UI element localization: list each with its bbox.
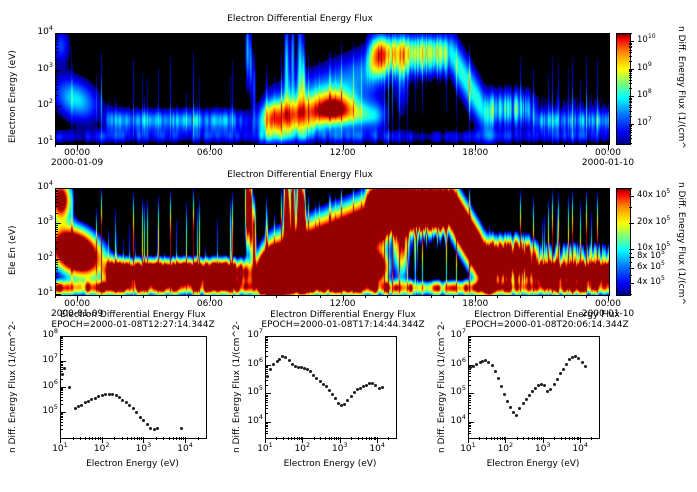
spectrum-xtick-label: 104 — [169, 444, 201, 454]
spectrum-xtick-minor — [288, 437, 289, 440]
colorbar-tick-minor — [629, 262, 632, 263]
spectrum-ytick-minor — [468, 385, 471, 386]
spectrum-ytick-minor — [265, 395, 268, 396]
panel-xtick — [320, 295, 321, 298]
spectrum-xtick-minor — [366, 437, 367, 440]
spectrum-ytick-minor — [60, 417, 63, 418]
colorbar-tick-minor — [629, 125, 632, 126]
panel-xtick — [276, 295, 277, 298]
spectrum-title-3: Electron Differential Energy Flux — [432, 310, 662, 320]
spectrum-data-point — [491, 364, 494, 367]
spectrum-xtick-minor — [92, 437, 93, 440]
panel-xtick — [121, 295, 122, 298]
spectrum-ytick-minor — [468, 373, 471, 374]
panel-ytick-minor — [55, 117, 58, 118]
panel-xtick — [497, 295, 498, 298]
spectrum-xtick-minor — [375, 437, 376, 440]
spectrum-ytick-minor — [265, 425, 268, 426]
panel-xtick — [365, 144, 366, 147]
spectrum-xtick-minor — [334, 437, 335, 440]
panel1-title: Electron Differential Energy Flux — [0, 14, 600, 24]
panel-xtick — [542, 144, 543, 147]
panel-xtick-label: 18:00 — [453, 299, 497, 309]
spectrum-xtick-minor — [371, 437, 372, 440]
panel-xtick — [121, 144, 122, 147]
spectrum-ytick-minor — [60, 394, 63, 395]
spectrum-xtick-minor — [541, 437, 542, 440]
panel-xtick — [143, 295, 144, 298]
spectrum-xtick — [377, 437, 378, 443]
panel-xtick-label: 00:00 — [586, 299, 630, 309]
panel-ytick-minor — [55, 59, 58, 60]
panel-xtick — [431, 295, 432, 298]
spectrum-ytick-minor — [60, 400, 63, 401]
panel2-colorbar-label-wrap: n Diff. Energy Flux (1/(cm^ — [686, 182, 697, 192]
colorbar-tick-minor — [629, 207, 632, 208]
spectrum-ytick-minor — [60, 429, 63, 430]
panel-xtick-label: 18:00 — [453, 148, 497, 158]
colorbar-tick-minor — [629, 44, 632, 45]
spectrum-xtick-minor — [574, 437, 575, 440]
spectrum-data-point — [104, 393, 107, 396]
panel2-ylabel: Ele En (eV) — [8, 225, 18, 275]
panel-xtick-label: 00:00 — [55, 299, 99, 309]
panel1-colorbar-label-wrap: n Diff. Energy Flux (1/(cm^ — [686, 26, 697, 36]
panel-xtick-label: 06:00 — [188, 148, 232, 158]
spectrum-ylabel-2: n Diff. Energy Flux (1/(cm^2- — [232, 321, 242, 453]
spectrum-data-point — [475, 363, 478, 366]
panel-ytick-minor — [55, 227, 58, 228]
colorbar-tick-minor — [629, 46, 632, 47]
spectrum-xtick-minor — [134, 437, 135, 440]
colorbar-tick-minor — [629, 47, 632, 48]
colorbar-tick-minor — [629, 102, 632, 103]
spectrum-ytick-minor — [265, 413, 268, 414]
spectrum-xtick-minor — [95, 437, 96, 440]
spectrum-ytick-minor — [60, 342, 63, 343]
panel-xtick — [143, 144, 144, 147]
spectrum-ytick-minor — [60, 397, 63, 398]
spectrum-ytick-minor — [468, 433, 471, 434]
panel-xtick — [586, 295, 587, 298]
spectrum-xtick-minor — [336, 437, 337, 440]
spectrum-xtick-minor — [325, 437, 326, 440]
panel-ytick-major — [55, 33, 61, 34]
panel-ytick-minor — [55, 277, 58, 278]
colorbar-tick-minor — [629, 50, 632, 51]
spectrum-xtick-minor — [534, 437, 535, 440]
spectrum-xtick-minor — [183, 437, 184, 440]
spectrum-ytick-minor — [60, 365, 63, 366]
panel-xtick-date: 2000-01-09 — [43, 158, 111, 168]
spectrum-ytick-minor — [60, 413, 63, 414]
spectrum-ytick-minor — [468, 398, 471, 399]
spectrum-data-point — [331, 393, 334, 396]
spectrum-xtick-minor — [301, 437, 302, 440]
spectrum-ytick-minor — [265, 433, 268, 434]
spectrum-xtick-minor — [500, 437, 501, 440]
spectrum-xtick-minor — [173, 437, 174, 440]
panel-ytick-minor — [55, 231, 58, 232]
spectrum-ytick-minor — [265, 369, 268, 370]
spectrum-ytick-minor — [60, 392, 63, 393]
panel-xtick — [99, 144, 100, 147]
spectrum-ytick-minor — [468, 400, 471, 401]
spectrum-xtick-minor — [122, 437, 123, 440]
panel-xtick — [166, 295, 167, 298]
panel-ytick-minor — [55, 269, 58, 270]
colorbar-tick-minor — [629, 294, 632, 295]
panel2-colorbar-label: n Diff. Energy Flux (1/(cm^ — [676, 182, 686, 305]
spectrum-ytick-minor — [60, 340, 63, 341]
spectrum-xtick-minor — [502, 437, 503, 440]
panel2-ylabel-wrap: Ele En (eV) — [8, 275, 58, 285]
panel2-colorbar — [616, 188, 631, 296]
spectrum-xtick-minor — [320, 437, 321, 440]
panel-ytick-minor — [55, 108, 58, 109]
spectrum-data-point — [288, 359, 291, 362]
colorbar-tick-minor — [629, 223, 632, 224]
spectrum-xtick — [102, 437, 103, 443]
colorbar-tick-minor — [629, 99, 632, 100]
panel-ytick-minor — [55, 48, 58, 49]
spectrum-ytick-minor — [265, 380, 268, 381]
spectrum-ytick-minor — [265, 405, 268, 406]
colorbar-tick-minor — [629, 253, 632, 254]
panel-ytick-minor — [55, 89, 58, 90]
spectrum-xtick-label: 104 — [361, 444, 393, 454]
panel-ytick-minor — [55, 190, 58, 191]
panel-xtick-date: 2000-01-10 — [574, 158, 642, 168]
spectrum-xtick-minor — [578, 437, 579, 440]
panel-xtick-label: 12:00 — [321, 148, 365, 158]
colorbar-tick-label: 1010 — [637, 35, 656, 45]
colorbar-tick-minor — [629, 80, 632, 81]
spectrum-ytick-minor — [60, 364, 63, 365]
colorbar-tick-minor — [629, 71, 632, 72]
spectrum-data-point — [146, 423, 149, 426]
panel-ytick-minor — [55, 121, 58, 122]
spectrum-ytick-minor — [60, 414, 63, 415]
panel-ytick-major — [55, 106, 61, 107]
panel-ytick-minor — [55, 52, 58, 53]
panel-ytick-minor — [55, 37, 58, 38]
spectrum-ytick-minor — [60, 416, 63, 417]
colorbar-tick-minor — [629, 135, 632, 136]
spectrum-ytick-minor — [265, 356, 268, 357]
colorbar-tick-label: 108 — [637, 90, 652, 100]
spectrum-data-point — [350, 395, 353, 398]
spectrum-ytick-minor — [265, 339, 268, 340]
spectrum-ytick-minor — [265, 431, 268, 432]
spectrum-xtick — [580, 437, 581, 443]
panel-xtick — [409, 144, 410, 147]
spectrum-ytick-minor — [265, 385, 268, 386]
spectrum-data-point — [139, 416, 142, 419]
colorbar-tick-minor — [629, 257, 632, 258]
spectrum-xtick-minor — [388, 437, 389, 440]
spectrum-ylabel-1: n Diff. Energy Flux (1/(cm^2- — [8, 321, 18, 453]
spectrum-xtick-minor — [358, 437, 359, 440]
panel-ytick-minor — [55, 260, 58, 261]
panel-xtick — [453, 144, 454, 147]
panel-xtick-label: 00:00 — [55, 148, 99, 158]
spectrum-ytick-minor — [468, 428, 471, 429]
colorbar-tick-minor — [629, 196, 632, 197]
panel-xtick — [188, 144, 189, 147]
panel2-title: Electron Differential Energy Flux — [0, 170, 600, 180]
spectrum-data-point — [353, 391, 356, 394]
spectrum-ytick-minor — [468, 339, 471, 340]
spectrum-xtick-minor — [577, 437, 578, 440]
spectrum-xtick-minor — [181, 437, 182, 440]
spectrum-ytick-minor — [60, 362, 63, 363]
spectrum-xtick-minor — [85, 437, 86, 440]
panel-ytick-minor — [55, 44, 58, 45]
spectrum-data-point — [325, 385, 328, 388]
spectrum-xtick-minor — [539, 437, 540, 440]
colorbar-tick-minor — [629, 126, 632, 127]
spectrum-data-point — [328, 389, 331, 392]
spectrum-ytick-minor — [265, 373, 268, 374]
spectrum-ylabel-wrap-2: n Diff. Energy Flux (1/(cm^2- — [232, 453, 364, 463]
spectrum-ytick-minor — [60, 349, 63, 350]
spectrum-ytick-minor — [60, 346, 63, 347]
panel-ytick-label: 104 — [25, 182, 53, 192]
panel-xtick — [232, 295, 233, 298]
colorbar-tick-label: 10x 105 — [637, 243, 670, 253]
spectrum-xtick-minor — [504, 437, 505, 440]
panel-ytick-minor — [55, 81, 58, 82]
spectrum-data-point — [94, 397, 97, 400]
spectrum-xtick-minor — [491, 437, 492, 440]
panel-ytick-minor — [55, 206, 58, 207]
panel-xtick — [166, 144, 167, 147]
spectrum-xtick-minor — [517, 437, 518, 440]
colorbar-tick-minor — [629, 56, 632, 57]
spectrum-data-point — [111, 393, 114, 396]
spectrum-data-point — [556, 378, 559, 381]
spectrum-data-point — [512, 411, 515, 414]
spectrum-ytick-minor — [265, 366, 268, 367]
spectrum-ytick-minor — [60, 419, 63, 420]
spectrum-ytick-minor — [468, 369, 471, 370]
spectrum-ytick-minor — [265, 351, 268, 352]
panel-ytick-minor — [55, 114, 58, 115]
spectrum-ytick-minor — [468, 380, 471, 381]
panel-xtick — [298, 144, 299, 147]
spectrum-data-point — [565, 363, 568, 366]
spectrum-ytick-minor — [265, 396, 268, 397]
panel-ytick-minor — [55, 267, 58, 268]
panel-xtick — [55, 295, 56, 298]
panel-xtick — [542, 295, 543, 298]
panel-ytick-major — [55, 188, 61, 189]
spectrum-xtick-minor — [299, 437, 300, 440]
spectrum-xtick-minor — [276, 437, 277, 440]
colorbar-tick-minor — [629, 52, 632, 53]
spectrum-ytick-minor — [468, 371, 471, 372]
spectrum-ytick-minor — [265, 345, 268, 346]
spectrum-ytick-minor — [468, 347, 471, 348]
panel-xtick — [564, 295, 565, 298]
spectrum-ytick-label: 106 — [28, 381, 58, 391]
spectrum-ytick-minor — [265, 423, 268, 424]
spectrum-data-point — [266, 375, 269, 378]
colorbar-tick-minor — [629, 83, 632, 84]
spectrum-data-point — [522, 402, 525, 405]
colorbar-tick-minor — [629, 70, 632, 71]
panel-ytick-label: 103 — [25, 217, 53, 227]
spectrum-xtick-minor — [591, 437, 592, 440]
spectrum-ylabel-3: n Diff. Energy Flux (1/(cm^2- — [437, 321, 447, 453]
panel-ytick-minor — [55, 71, 58, 72]
panel-xtick — [497, 144, 498, 147]
spectrum-data-point — [584, 365, 587, 368]
spectrum-xtick-minor — [362, 437, 363, 440]
spectrum-ytick-minor — [468, 423, 471, 424]
panel-xtick — [520, 144, 521, 147]
spectrum-data-point — [381, 386, 384, 389]
spectrum-xtick-minor — [100, 437, 101, 440]
panel-ytick-minor — [55, 75, 58, 76]
spectrum-ytick-minor — [468, 396, 471, 397]
spectrum-ytick-minor — [468, 340, 471, 341]
colorbar-tick-minor — [629, 138, 632, 139]
spectrum-ytick-minor — [265, 398, 268, 399]
spectrum-xtick-minor — [163, 437, 164, 440]
spectrum-ytick-minor — [60, 389, 63, 390]
panel-ytick-minor — [55, 132, 58, 133]
spectrum-ytick-minor — [265, 367, 268, 368]
spectrum-ytick-minor — [60, 422, 63, 423]
panel-ytick-minor — [55, 196, 58, 197]
colorbar-tick-minor — [629, 249, 632, 250]
panel-ytick-label: 101 — [25, 288, 53, 298]
colorbar-tick-minor — [629, 75, 632, 76]
panel-xtick — [55, 144, 56, 147]
panel-xtick — [586, 144, 587, 147]
panel-ytick-minor — [55, 193, 58, 194]
colorbar-tick-label: 20x 105 — [637, 217, 670, 227]
spectrum-xtick-minor — [98, 437, 99, 440]
spectrum-xtick-minor — [565, 437, 566, 440]
panel-ytick-minor — [55, 39, 58, 40]
spectrum-xtick-minor — [127, 437, 128, 440]
spectrum-xtick-minor — [532, 437, 533, 440]
spectrum-data-point — [149, 427, 152, 430]
spectrum-xtick-minor — [569, 437, 570, 440]
spectrum-xtick-minor — [561, 437, 562, 440]
spectrum-epoch-1: EPOCH=2000-01-08T12:27:14.344Z — [18, 320, 248, 330]
panel-ytick-minor — [55, 273, 58, 274]
colorbar-tick-minor — [629, 61, 632, 62]
panel-ytick-minor — [55, 78, 58, 79]
spectrum-xtick-minor — [479, 437, 480, 440]
spectrum-data-point — [503, 393, 506, 396]
panel-ytick-minor — [55, 248, 58, 249]
spectrum-xtick — [302, 437, 303, 443]
panel-xtick — [520, 295, 521, 298]
spectrum-xtick — [505, 437, 506, 443]
spectrum-ytick-minor — [265, 337, 268, 338]
panel-ytick-minor — [55, 262, 58, 263]
colorbar-tick-minor — [629, 128, 632, 129]
colorbar-tick-minor — [629, 98, 632, 99]
colorbar-tick-minor — [629, 283, 632, 284]
spectrum-xtick-minor — [554, 437, 555, 440]
panel-ytick-minor — [55, 35, 58, 36]
spectrum-ytick-minor — [468, 351, 471, 352]
spectrum-xtick-minor — [283, 437, 284, 440]
colorbar-tick-minor — [629, 73, 632, 74]
panel-xtick — [320, 144, 321, 147]
spectrum-xtick-minor — [169, 437, 170, 440]
spectrum-xtick-minor — [297, 437, 298, 440]
spectrum-xtick-minor — [141, 437, 142, 440]
panel-ytick-minor — [55, 110, 58, 111]
panel-xtick-label: 12:00 — [321, 299, 365, 309]
spectrum-xtick-minor — [486, 437, 487, 440]
spectrum-xtick-minor — [329, 437, 330, 440]
panel-xtick — [254, 144, 255, 147]
spectrum-ytick-minor — [60, 338, 63, 339]
spectrum-ytick-minor — [265, 371, 268, 372]
colorbar-tick-minor — [629, 268, 632, 269]
panel-xtick — [387, 295, 388, 298]
spectrum-xtick-minor — [139, 437, 140, 440]
spectrum-data-point — [525, 398, 528, 401]
spectrum-ytick-minor — [265, 408, 268, 409]
panel-ytick-major — [55, 259, 61, 260]
spectrum-xtick-minor — [494, 437, 495, 440]
spectrum-xtick — [185, 437, 186, 443]
spectrum-ytick-minor — [265, 340, 268, 341]
spectrum-ytick-minor — [468, 408, 471, 409]
spectrum-ytick-minor — [60, 404, 63, 405]
spectrum-xtick-minor — [198, 437, 199, 440]
spectrum-ytick-minor — [468, 337, 471, 338]
panel-ytick-minor — [55, 199, 58, 200]
spectrum-ytick-minor — [468, 395, 471, 396]
spectrum-ytick-minor — [265, 342, 268, 343]
spectrum-data-point — [562, 368, 565, 371]
spectrum-xtick-minor — [294, 437, 295, 440]
panel-ytick-label: 101 — [25, 137, 53, 147]
spectrum-data-point — [68, 386, 71, 389]
panel-ytick-label: 104 — [25, 27, 53, 37]
spectrum-xtick-minor — [331, 437, 332, 440]
spectrum-ytick-minor — [265, 400, 268, 401]
spectrum-data-point — [506, 400, 509, 403]
colorbar-tick-minor — [629, 111, 632, 112]
spectrum-xtick — [265, 437, 266, 443]
spectrum-ytick-minor — [60, 388, 63, 389]
colorbar-tick-minor — [629, 116, 632, 117]
panel-xtick — [298, 295, 299, 298]
spectrum-data-point — [156, 427, 159, 430]
spectrum-xtick-minor — [179, 437, 180, 440]
panel-xtick — [365, 295, 366, 298]
panel-xtick — [387, 144, 388, 147]
panel1-spectrogram — [55, 33, 610, 145]
panel-xtick — [453, 295, 454, 298]
spectrum-data-point — [61, 373, 64, 376]
spectrum-xtick-minor — [523, 437, 524, 440]
spectrum-data-point — [497, 377, 500, 380]
panel-ytick-minor — [55, 264, 58, 265]
panel-ytick-label: 102 — [25, 253, 53, 263]
